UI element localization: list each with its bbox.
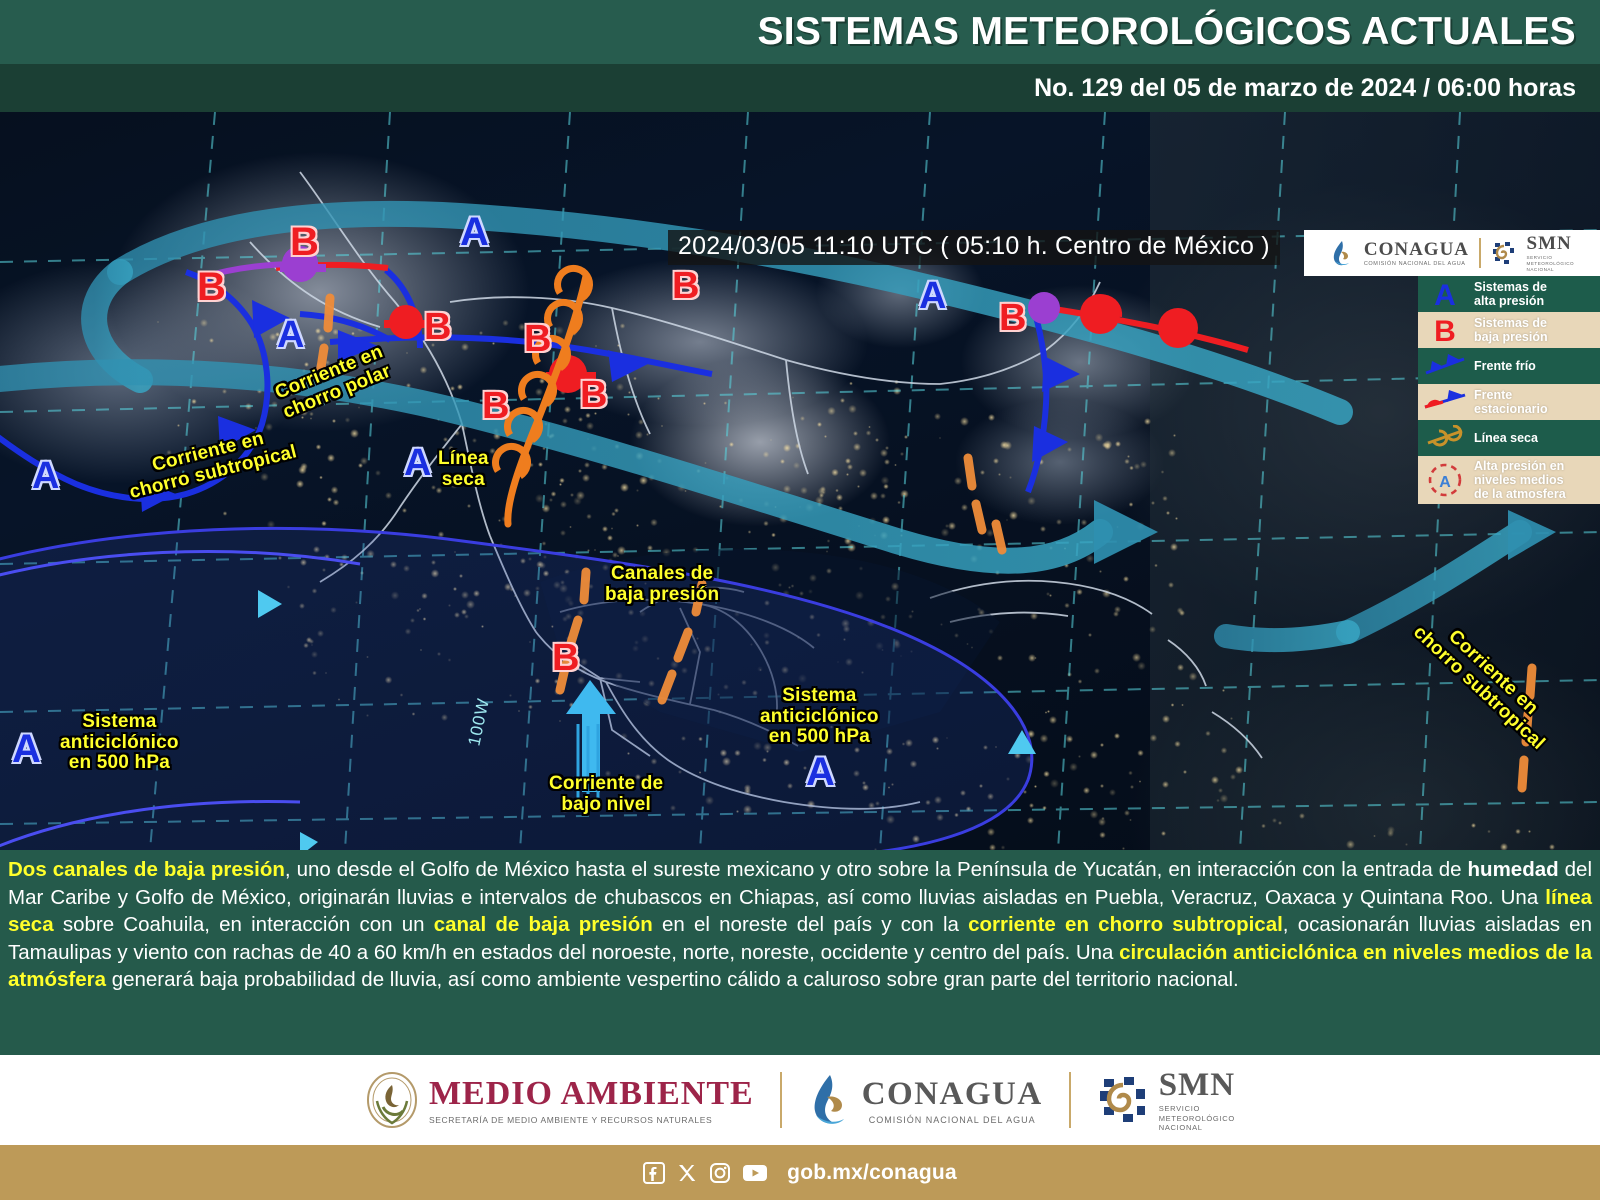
page-title: SISTEMAS METEOROLÓGICOS ACTUALES — [757, 10, 1600, 54]
high-pressure-symbol-3: A — [277, 316, 304, 354]
low-pressure-symbol-9: B — [482, 387, 509, 425]
conagua-water-icon — [1330, 239, 1354, 267]
low-pressure-symbol-5: B — [672, 267, 699, 305]
legend-row-2: Frente frío — [1418, 348, 1600, 384]
map-label-anticiclon-w: Sistema anticiclónico en 500 hPa — [60, 712, 179, 774]
stationary-front-icon — [1422, 389, 1468, 415]
medio-ambiente-logo: MEDIO AMBIENTE SECRETARÍA DE MEDIO AMBIE… — [365, 1071, 754, 1129]
conagua-footer-logo: CONAGUA COMISIÓN NACIONAL DEL AGUA — [808, 1072, 1043, 1128]
smn-footer-logo: SMN SERVICIO METEOROLÓGICO NACIONAL — [1097, 1067, 1235, 1132]
legend-label-0: Sistemas de alta presión — [1474, 280, 1547, 308]
conagua-footer-text: CONAGUA COMISIÓN NACIONAL DEL AGUA — [862, 1076, 1043, 1125]
smn-subtitle: SERVICIO METEOROLÓGICO NACIONAL — [1527, 255, 1575, 272]
footer-logos: MEDIO AMBIENTE SECRETARÍA DE MEDIO AMBIE… — [0, 1055, 1600, 1145]
conagua-subtitle: COMISIÓN NACIONAL DEL AGUA — [1364, 261, 1469, 267]
low-pressure-symbol-7: B — [580, 376, 607, 414]
map-label-anticiclon-e: Sistema anticiclónico en 500 hPa — [760, 686, 879, 748]
map-label-canales: Canales de baja presión — [605, 564, 719, 605]
smn-spiral-icon — [1491, 240, 1517, 266]
low-pressure-symbol-6: B — [524, 320, 551, 358]
legend-row-1: BSistemas de baja presión — [1418, 312, 1600, 348]
footer-divider-1 — [780, 1072, 782, 1128]
map-logo-strip: CONAGUA COMISIÓN NACIONAL DEL AGUA SMN S… — [1304, 230, 1600, 276]
cold-front-icon — [1422, 353, 1468, 379]
legend-label-4: Línea seca — [1474, 431, 1538, 445]
low-pressure-symbol-14: B — [552, 639, 579, 677]
high-pressure-symbol-8: A — [404, 444, 431, 482]
logo-divider — [1479, 238, 1481, 268]
legend-label-5: Alta presión en niveles medios de la atm… — [1474, 459, 1566, 501]
description-segment-8: corriente en chorro subtropical — [968, 913, 1283, 936]
description-segment-0: Dos canales de baja presión — [8, 858, 285, 881]
description-segment-5: sobre Coahuila, en interacción con un — [54, 913, 434, 936]
high-pressure-symbol-10: A — [919, 277, 946, 315]
medio-ambiente-text: MEDIO AMBIENTE SECRETARÍA DE MEDIO AMBIE… — [429, 1075, 754, 1125]
map-label-linea-seca: Línea seca — [438, 449, 489, 490]
social-media-bar: gob.mx/conagua — [0, 1145, 1600, 1200]
smn-name: SMN — [1527, 233, 1575, 255]
description-segment-1: , uno desde el Golfo de México hasta el … — [285, 858, 1468, 881]
dry-line-icon — [1422, 425, 1468, 451]
legend-row-4: Línea seca — [1418, 420, 1600, 456]
forecast-description: Dos canales de baja presión, uno desde e… — [0, 850, 1600, 1055]
mid-level-high-icon: A — [1422, 462, 1468, 498]
legend-label-3: Frente estacionario — [1474, 388, 1548, 416]
header-bar: SISTEMAS METEOROLÓGICOS ACTUALES — [0, 0, 1600, 64]
high-pressure-symbol-13: A — [12, 729, 41, 769]
high-pressure-symbol-15: A — [806, 752, 835, 792]
smn-logo-text: SMN SERVICIO METEOROLÓGICO NACIONAL — [1527, 233, 1575, 272]
low-pressure-symbol-11: B — [999, 299, 1026, 337]
legend-label-2: Frente frío — [1474, 359, 1536, 373]
description-segment-11: generará baja probabilidad de lluvia, as… — [106, 968, 1239, 991]
bulletin-number-date: No. 129 del 05 de marzo de 2024 / 06:00 … — [1034, 74, 1600, 103]
low-pressure-symbol-4: B — [424, 308, 451, 346]
svg-text:A: A — [1434, 279, 1456, 309]
medio-ambiente-subtitle: SECRETARÍA DE MEDIO AMBIENTE Y RECURSOS … — [429, 1115, 754, 1125]
map-timestamp: 2024/03/05 11:10 UTC ( 05:10 h. Centro d… — [668, 230, 1280, 265]
high-pressure-symbol-12: A — [32, 457, 59, 495]
svg-text:A: A — [1439, 474, 1451, 491]
conagua-logo-text: CONAGUA COMISIÓN NACIONAL DEL AGUA — [1364, 239, 1469, 267]
map-label-corriente-bajo: Corriente de bajo nivel — [549, 774, 663, 815]
letter-B-icon: B — [1422, 315, 1468, 345]
social-url[interactable]: gob.mx/conagua — [787, 1161, 957, 1185]
satellite-weather-map: 100W BBAABBBBABABAABAB Corriente en chor… — [0, 112, 1600, 850]
smn-footer-subtitle: SERVICIO METEOROLÓGICO NACIONAL — [1159, 1104, 1235, 1132]
youtube-icon[interactable] — [742, 1163, 768, 1183]
weather-bulletin-page: SISTEMAS METEOROLÓGICOS ACTUALES No. 129… — [0, 0, 1600, 1200]
low-pressure-symbol-0: B — [290, 222, 319, 262]
facebook-icon[interactable] — [643, 1162, 665, 1184]
svg-text:B: B — [1434, 315, 1456, 345]
high-pressure-symbol-2: A — [460, 212, 489, 252]
conagua-water-eagle-icon — [808, 1072, 852, 1128]
description-segment-2: humedad — [1468, 858, 1559, 881]
conagua-footer-title: CONAGUA — [862, 1076, 1043, 1113]
smn-footer-text: SMN SERVICIO METEOROLÓGICO NACIONAL — [1159, 1067, 1235, 1132]
description-segment-7: en el noreste del país y con la — [653, 913, 968, 936]
map-legend: ASistemas de alta presiónBSistemas de ba… — [1418, 276, 1600, 504]
smn-footer-title: SMN — [1159, 1067, 1235, 1104]
mexico-coat-of-arms-icon — [365, 1071, 419, 1129]
instagram-icon[interactable] — [709, 1162, 731, 1184]
medio-ambiente-title: MEDIO AMBIENTE — [429, 1075, 754, 1113]
smn-aztec-spiral-icon — [1097, 1074, 1149, 1126]
conagua-name: CONAGUA — [1364, 239, 1469, 261]
letter-A-icon: A — [1422, 279, 1468, 309]
description-segment-6: canal de baja presión — [434, 913, 653, 936]
legend-row-5: AAlta presión en niveles medios de la at… — [1418, 456, 1600, 504]
x-twitter-icon[interactable] — [676, 1162, 698, 1184]
legend-row-3: Frente estacionario — [1418, 384, 1600, 420]
low-pressure-symbol-1: B — [197, 267, 226, 307]
subheader-bar: No. 129 del 05 de marzo de 2024 / 06:00 … — [0, 64, 1600, 112]
legend-label-1: Sistemas de baja presión — [1474, 316, 1548, 344]
legend-row-0: ASistemas de alta presión — [1418, 276, 1600, 312]
conagua-footer-subtitle: COMISIÓN NACIONAL DEL AGUA — [862, 1115, 1043, 1125]
footer-divider-2 — [1069, 1072, 1071, 1128]
